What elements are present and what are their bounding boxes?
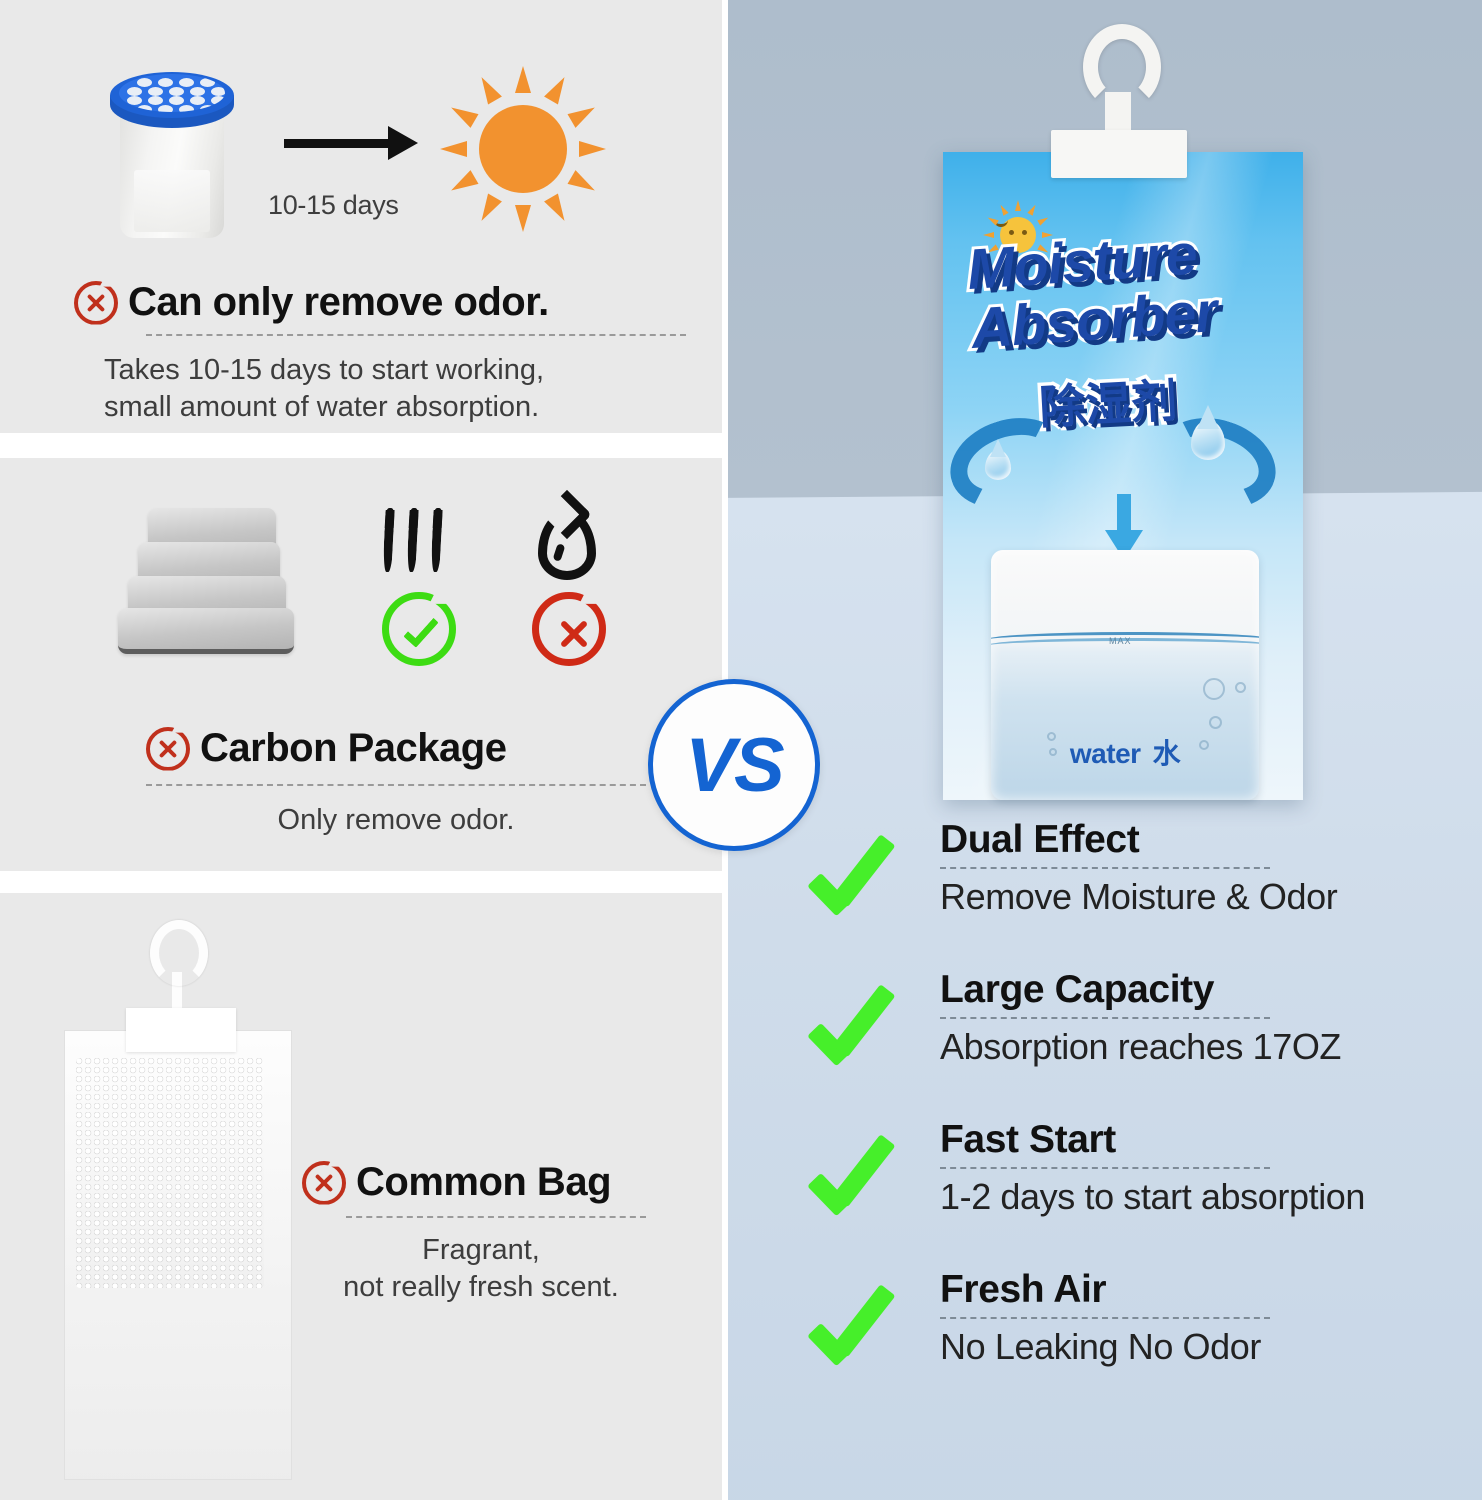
sun-ray <box>475 73 502 104</box>
benefit-item: Large Capacity Absorption reaches 17OZ <box>800 968 1482 1118</box>
vs-badge: VS <box>648 679 820 851</box>
common-bag-image <box>54 920 304 1480</box>
plastic-jar-image <box>108 72 236 238</box>
hanger-tab <box>1051 130 1187 178</box>
water-label-container: water水 <box>991 732 1259 772</box>
lid-hole <box>169 96 184 105</box>
product-pros-column: Moisture Absorber 除湿剂 MAX water水 <box>728 0 1482 1500</box>
divider <box>346 1216 646 1218</box>
sun-ray <box>579 141 606 157</box>
jar-contents <box>134 170 210 232</box>
benefit-title: Fast Start <box>940 1118 1482 1162</box>
sun-icon <box>440 66 606 232</box>
comparison-cons-column: 10-15 days Can only remove odor. Takes 1… <box>0 0 728 1500</box>
divider <box>940 1167 1270 1169</box>
green-check-icon <box>812 834 908 908</box>
max-level-label: MAX <box>1109 636 1132 646</box>
lid-hole <box>127 87 142 96</box>
red-x-circle-icon <box>532 592 606 666</box>
green-check-icon <box>812 1134 908 1208</box>
lid-hole <box>200 78 215 87</box>
divider <box>146 334 686 336</box>
sun-ray <box>567 170 598 197</box>
moisture-capability-group <box>518 510 618 680</box>
sun-ray <box>475 193 502 224</box>
con-description: Only remove odor. <box>146 802 646 839</box>
sun-ray <box>447 101 478 128</box>
benefit-description: 1-2 days to start absorption <box>940 1176 1482 1218</box>
vs-label: VS <box>685 722 782 809</box>
green-check-circle-icon <box>382 592 456 666</box>
jar-body <box>120 114 224 238</box>
green-check-icon <box>812 1284 908 1358</box>
benefit-title: Large Capacity <box>940 968 1482 1012</box>
con-title: Carbon Package <box>200 726 506 771</box>
green-check-icon <box>812 984 908 1058</box>
duration-label: 10-15 days <box>268 190 448 221</box>
divider <box>940 1317 1270 1319</box>
sun-ray <box>515 205 531 232</box>
con-heading-container: Carbon Package <box>146 726 506 771</box>
divider <box>940 1017 1270 1019</box>
red-x-circle-icon <box>74 281 118 325</box>
sun-ray <box>515 66 531 93</box>
divider <box>146 784 646 786</box>
lid-hole <box>158 105 173 112</box>
benefits-list: Dual Effect Remove Moisture & Odor Large… <box>800 818 1482 1418</box>
lid-hole <box>127 96 142 105</box>
con-title: Can only remove odor. <box>128 280 549 325</box>
benefit-item: Dual Effect Remove Moisture & Odor <box>800 818 1482 968</box>
sun-ray <box>567 101 598 128</box>
package-title: Moisture Absorber <box>965 221 1292 356</box>
lid-hole <box>211 96 225 105</box>
con-title: Common Bag <box>356 1160 611 1205</box>
benefit-description: Remove Moisture & Odor <box>940 876 1482 918</box>
water-reservoir-illustration: MAX water水 <box>991 550 1259 800</box>
water-label-chinese: 水 <box>1153 737 1181 770</box>
con-description: Takes 10-15 days to start working, small… <box>104 352 704 426</box>
jar-lid <box>110 72 234 128</box>
red-x-circle-icon <box>302 1161 346 1205</box>
jar-lid-perforations <box>119 74 225 112</box>
divider <box>940 867 1270 869</box>
con-description: Fragrant, not really fresh scent. <box>306 1232 656 1306</box>
sun-ray <box>998 203 1009 216</box>
lid-hole <box>137 78 152 87</box>
hanger-tab <box>126 1008 236 1052</box>
red-x-circle-icon <box>146 727 190 771</box>
sun-ray <box>1027 203 1038 216</box>
sun-ray <box>1037 215 1050 226</box>
bag-beads <box>76 1058 264 1288</box>
water-label: water <box>1070 738 1141 769</box>
con-heading-container: Common Bag <box>302 1160 611 1205</box>
lid-hole <box>179 105 194 112</box>
water-drop-icon <box>538 510 596 580</box>
product-package-image: Moisture Absorber 除湿剂 MAX water水 <box>943 10 1303 800</box>
benefit-description: Absorption reaches 17OZ <box>940 1026 1482 1068</box>
lid-hole <box>148 96 163 105</box>
package-front: Moisture Absorber 除湿剂 MAX water水 <box>943 152 1303 800</box>
lid-hole <box>158 78 173 87</box>
carbon-bags-image <box>118 508 308 668</box>
benefit-item: Fresh Air No Leaking No Odor <box>800 1268 1482 1418</box>
lid-hole <box>200 105 215 112</box>
lid-hole <box>211 87 225 96</box>
con-heading-container: Can only remove odor. <box>74 280 549 325</box>
lid-hole <box>137 105 152 112</box>
lid-hole <box>148 87 163 96</box>
right-arrow-icon <box>284 126 418 160</box>
lid-hole <box>190 96 205 105</box>
sun-ray <box>544 193 571 224</box>
lid-hole <box>169 87 184 96</box>
benefit-title: Dual Effect <box>940 818 1482 862</box>
benefit-description: No Leaking No Odor <box>940 1326 1482 1368</box>
odor-waves-icon <box>382 510 454 576</box>
benefit-item: Fast Start 1-2 days to start absorption <box>800 1118 1482 1268</box>
odor-capability-group <box>368 510 468 680</box>
sun-ray <box>544 73 571 104</box>
con-card-container: 10-15 days Can only remove odor. Takes 1… <box>0 0 722 433</box>
benefit-title: Fresh Air <box>940 1268 1482 1312</box>
sun-ray <box>1015 200 1021 211</box>
lid-hole <box>190 87 205 96</box>
sun-ray <box>440 141 467 157</box>
lid-hole <box>179 78 194 87</box>
sun-ray <box>447 170 478 197</box>
water-droplet-icon <box>985 450 1011 480</box>
hanger-hook-icon <box>150 920 208 986</box>
